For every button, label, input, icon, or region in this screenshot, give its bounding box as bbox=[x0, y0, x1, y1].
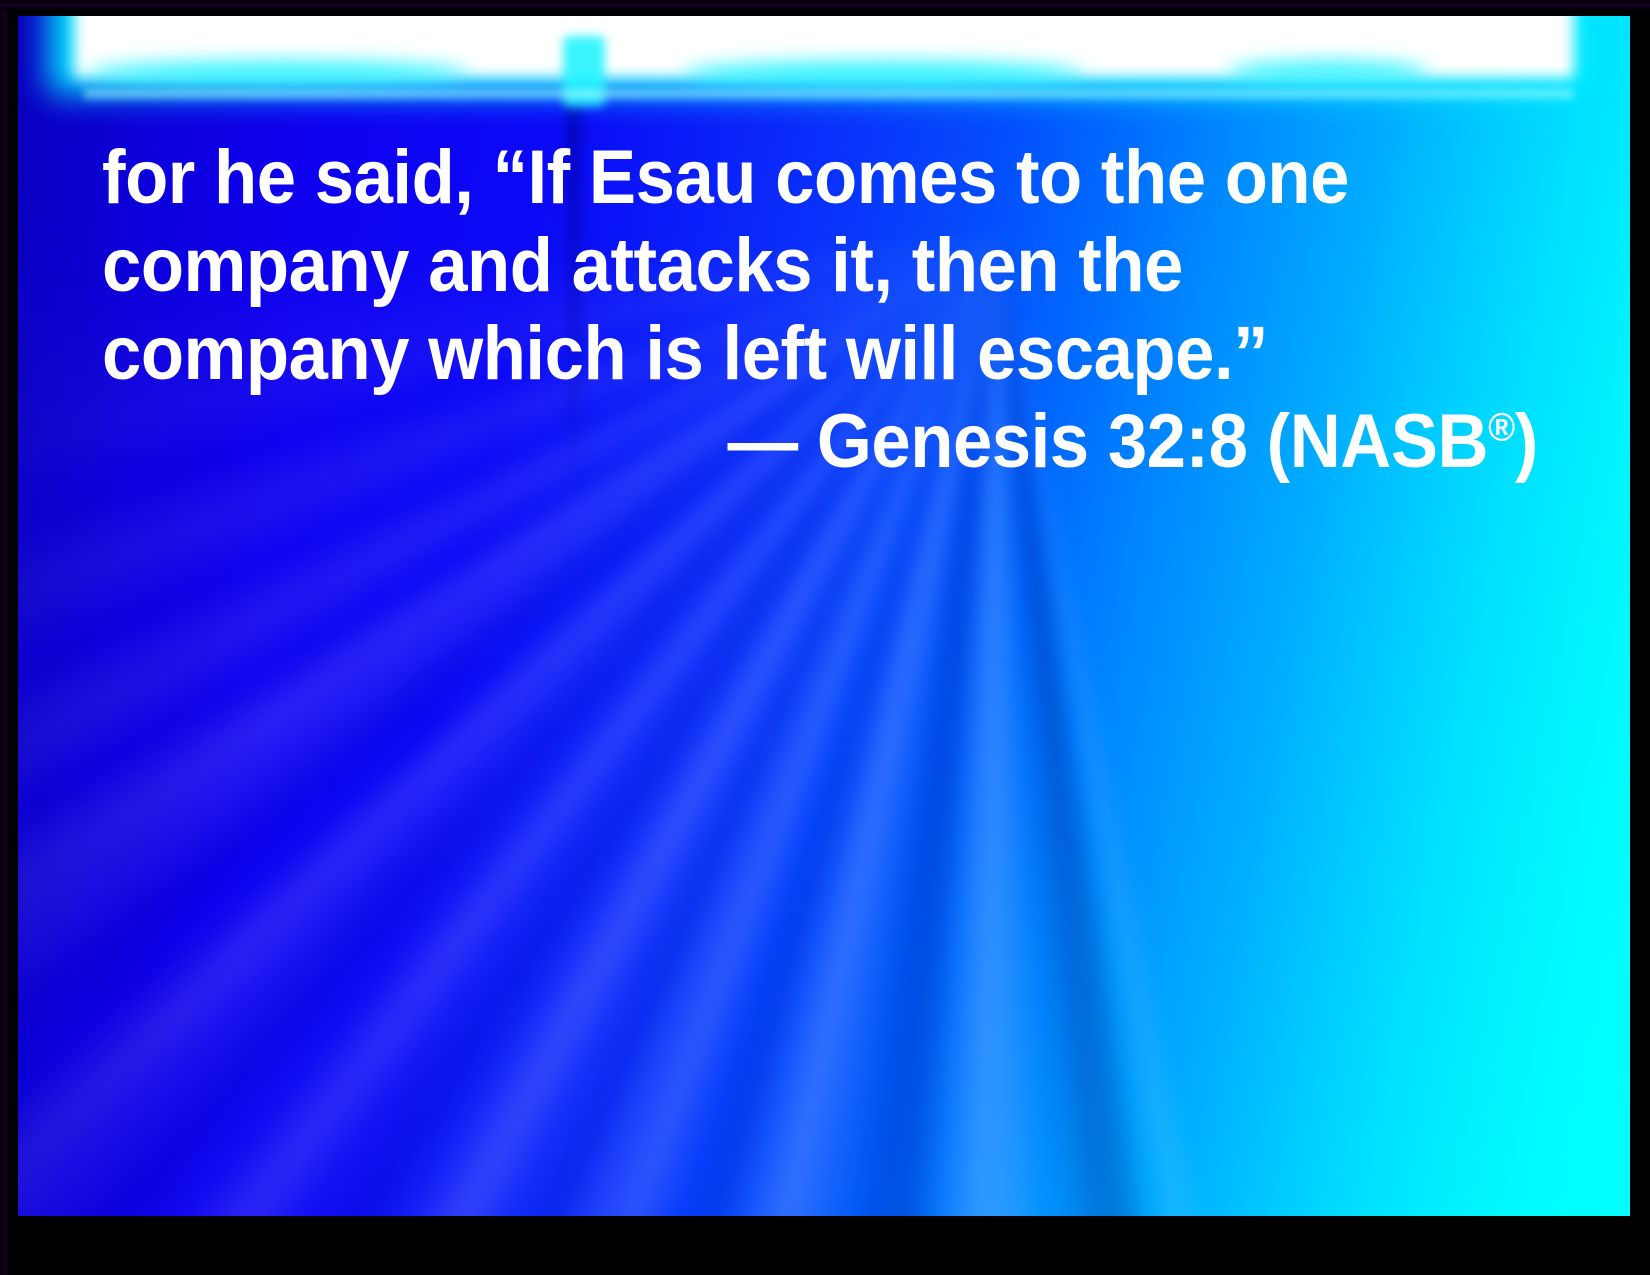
verse-slide: for he said, “If Esau comes to the one c… bbox=[0, 0, 1650, 1275]
slide-canvas: for he said, “If Esau comes to the one c… bbox=[18, 16, 1630, 1216]
frame-left-edge bbox=[0, 0, 10, 1275]
registered-trademark-icon: ® bbox=[1488, 406, 1515, 450]
citation-translation-close: ) bbox=[1515, 399, 1538, 484]
verse-line-1: for he said, “If Esau comes to the one bbox=[102, 134, 1460, 222]
citation-em-dash: — bbox=[727, 399, 797, 484]
verse-line-2: company and attacks it, then the bbox=[102, 222, 1460, 310]
citation-chapter-verse: 32:8 bbox=[1108, 399, 1248, 484]
banner-highlight-group bbox=[18, 16, 1630, 146]
citation-translation-open: (NASB bbox=[1267, 399, 1488, 484]
banner-highlight-center bbox=[683, 60, 1083, 86]
top-banner bbox=[18, 16, 1630, 146]
verse-line-3: company which is left will escape.” bbox=[102, 310, 1460, 398]
banner-underline bbox=[84, 90, 1574, 102]
frame-top-edge bbox=[0, 0, 1650, 10]
banner-highlight-left bbox=[88, 60, 468, 84]
verse-text-block: for he said, “If Esau comes to the one c… bbox=[102, 134, 1562, 486]
verse-citation: — Genesis 32:8 (NASB®) bbox=[204, 398, 1562, 486]
banner-highlight-right bbox=[1228, 60, 1428, 82]
citation-book: Genesis bbox=[817, 399, 1089, 484]
